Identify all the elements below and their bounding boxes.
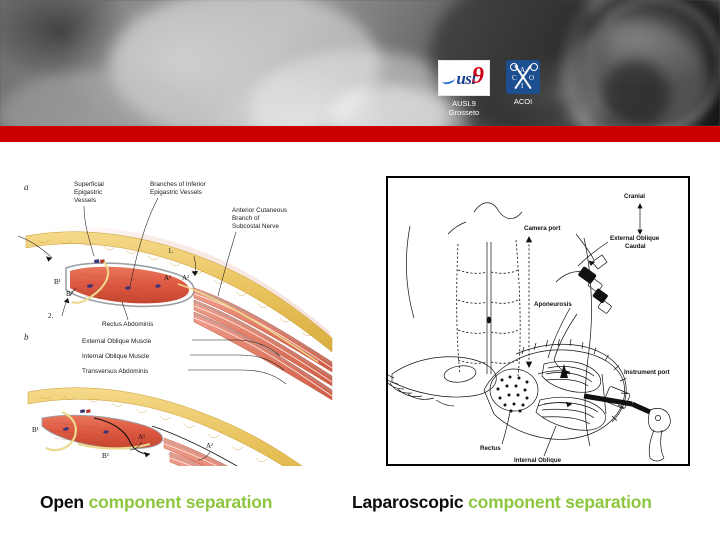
logo-acoi: A C O I ACOI bbox=[506, 60, 540, 106]
label-external-oblique-lap: External Oblique bbox=[610, 235, 660, 242]
label-cranial: Cranial bbox=[624, 193, 645, 200]
label-camera-port: Camera port bbox=[524, 225, 560, 232]
laparoscopic-component-separation-figure: Aponeurosis bbox=[386, 176, 690, 466]
marker-a1-panel-b: A¹ bbox=[138, 433, 145, 441]
acoi-letter-a: A bbox=[520, 67, 525, 74]
label-internal-oblique: Internal Oblique Muscle bbox=[82, 353, 150, 360]
logo-ausl9: usl 9 AUSL9 Grosseto bbox=[438, 60, 490, 117]
caption-open-green: component separation bbox=[89, 492, 273, 512]
ausl9-caption-line2: Grosseto bbox=[449, 108, 479, 117]
banner-shadow-2 bbox=[600, 60, 670, 126]
marker-b2-panel-b: B² bbox=[102, 452, 109, 460]
label-branches-line1: Branches of Inferior bbox=[150, 181, 207, 188]
label-aponeurosis: Aponeurosis bbox=[534, 301, 572, 308]
label-superficial-line3: Vessels bbox=[74, 197, 96, 204]
acoi-letter-i: I bbox=[521, 83, 523, 90]
ausl9-number: 9 bbox=[472, 64, 484, 88]
marker-2-panel-a: 2. bbox=[48, 312, 54, 320]
ausl9-caption-line1: AUSL9 bbox=[452, 99, 476, 108]
label-external-oblique: External Oblique Muscle bbox=[82, 338, 152, 345]
acoi-letter-c: C bbox=[512, 75, 517, 82]
acoi-logo-icon: A C O I bbox=[506, 60, 540, 94]
marker-a1-panel-a: A¹ bbox=[164, 274, 171, 282]
ausl9-logo-icon: usl 9 bbox=[438, 60, 490, 96]
presentation-slide: usl 9 AUSL9 Grosseto A C O I ACOI bbox=[0, 0, 720, 540]
marker-b2-panel-a: B² bbox=[66, 290, 73, 298]
caption-laparoscopic-dark: Laparoscopic bbox=[352, 492, 463, 512]
caption-laparoscopic: Laparoscopic component separation bbox=[352, 492, 652, 513]
surgical-photo-banner bbox=[0, 0, 720, 126]
caption-open: Open component separation bbox=[40, 492, 272, 513]
acoi-scissor-ring-2 bbox=[530, 63, 538, 71]
marker-a2-panel-b: A² bbox=[206, 442, 213, 450]
label-rectus-abdominis: Rectus Abdominis bbox=[102, 321, 153, 328]
label-caudal: Caudal bbox=[625, 243, 646, 250]
ausl9-swoosh-icon bbox=[441, 74, 455, 85]
label-internal-oblique-lap: Internal Oblique bbox=[514, 457, 562, 463]
logo-bar: usl 9 AUSL9 Grosseto A C O I ACOI bbox=[438, 60, 568, 122]
label-anterior-line3: Subcostal Nerve bbox=[232, 223, 279, 230]
label-branches-line2: Epigastric Vessels bbox=[150, 189, 202, 196]
label-rectus-lap: Rectus bbox=[480, 445, 501, 452]
acoi-caption-line1: ACOI bbox=[514, 97, 532, 106]
label-instrument-port: Instrument port bbox=[624, 369, 670, 376]
marker-b1-panel-a: B¹ bbox=[54, 278, 61, 286]
caption-open-dark: Open bbox=[40, 492, 84, 512]
slide-captions: Open component separation Laparoscopic c… bbox=[0, 492, 720, 526]
panel-a-label: a bbox=[24, 182, 29, 192]
label-superficial-line1: Superficial bbox=[74, 181, 104, 188]
acoi-letter-o: O bbox=[529, 75, 534, 82]
label-anterior-line2: Branch of bbox=[232, 215, 260, 222]
label-anterior-line1: Anterior Cutaneous bbox=[232, 207, 287, 214]
marker-a2-panel-a: A² bbox=[182, 274, 189, 282]
label-transversus-abdominis: Transversus Abdominis bbox=[82, 368, 148, 375]
marker-1-panel-a: 1. bbox=[168, 247, 174, 255]
caption-laparoscopic-green: component separation bbox=[468, 492, 652, 512]
marker-b1-panel-b: B¹ bbox=[32, 426, 39, 434]
panel-b-label: b bbox=[24, 332, 29, 342]
open-component-separation-figure: a B¹ B² 2. 1. A¹ A² Superficial Epigastr… bbox=[18, 176, 336, 466]
anatomy-panel-a: a B¹ B² 2. 1. A¹ A² Superficial Epigastr… bbox=[18, 181, 332, 400]
label-superficial-line2: Epigastric bbox=[74, 189, 103, 196]
red-divider-stripe bbox=[0, 126, 720, 142]
acoi-scissor-ring-1 bbox=[510, 63, 518, 71]
